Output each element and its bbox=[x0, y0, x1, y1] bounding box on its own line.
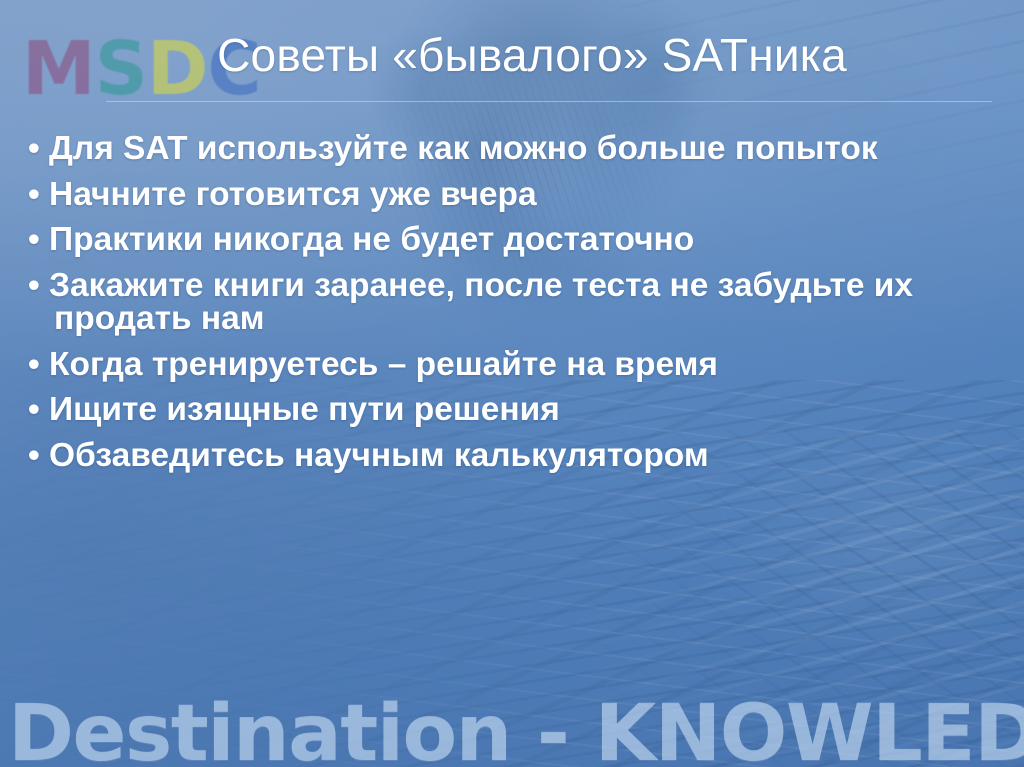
slide-title: Советы «бывалого» SATника bbox=[0, 30, 1024, 81]
bullet-item: • Обзаведитесь научным калькулятором bbox=[28, 439, 1002, 473]
bullet-marker-icon: • bbox=[28, 437, 49, 474]
presentation-slide: MSDC Советы «бывалого» SATника • Для SAT… bbox=[0, 0, 1024, 767]
bullet-marker-icon: • bbox=[28, 176, 49, 213]
bullet-text: Практики никогда не будет достаточно bbox=[49, 221, 694, 258]
bullet-item: • Закажите книги заранее, после теста не… bbox=[28, 269, 1002, 336]
bullet-text: Закажите книги заранее, после теста не з… bbox=[49, 267, 913, 338]
bullet-item: • Для SAT используйте как можно больше п… bbox=[28, 132, 1002, 166]
bullet-item: • Практики никогда не будет достаточно bbox=[28, 223, 1002, 257]
bullet-item: • Начните готовится уже вчера bbox=[28, 178, 1002, 212]
bullet-item: • Ищите изящные пути решения bbox=[28, 393, 1002, 427]
bullet-marker-icon: • bbox=[28, 267, 49, 304]
bullet-marker-icon: • bbox=[28, 391, 49, 428]
bullet-text: Когда тренируетесь – решайте на время bbox=[49, 346, 718, 383]
bullet-text: Ищите изящные пути решения bbox=[49, 391, 560, 428]
bullet-marker-icon: • bbox=[28, 130, 49, 167]
title-divider bbox=[106, 101, 992, 102]
bullet-item: • Когда тренируетесь – решайте на время bbox=[28, 348, 1002, 382]
bullet-text: Для SAT используйте как можно больше поп… bbox=[49, 130, 878, 167]
footer-watermark: Destination - KNOWLEDGE bbox=[8, 695, 1024, 767]
bullet-marker-icon: • bbox=[28, 221, 49, 258]
bullet-marker-icon: • bbox=[28, 346, 49, 383]
bullet-list: • Для SAT используйте как можно больше п… bbox=[28, 132, 1002, 484]
bullet-text: Начните готовится уже вчера bbox=[49, 176, 537, 213]
bullet-text: Обзаведитесь научным калькулятором bbox=[49, 437, 709, 474]
